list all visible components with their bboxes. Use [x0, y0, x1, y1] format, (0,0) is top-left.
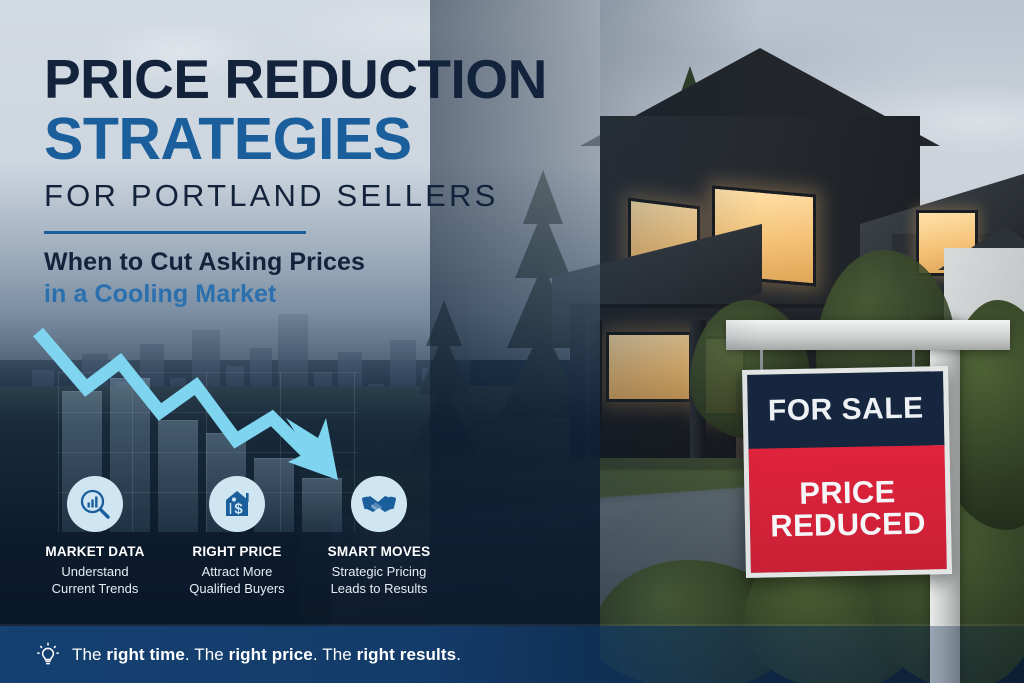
feature-title: SMART MOVES: [308, 544, 450, 559]
feature-list: MARKET DATA Understand Current Trends $ …: [24, 476, 454, 597]
tagline-part3-end: .: [456, 645, 461, 664]
feature-desc-line2: Qualified Buyers: [166, 580, 308, 597]
page-title-line1: PRICE REDUCTION: [44, 52, 547, 107]
sign-price-text: PRICE: [799, 476, 896, 509]
page-title-line3: FOR PORTLAND SELLERS: [44, 180, 498, 211]
feature-title: MARKET DATA: [24, 544, 166, 559]
feature-icon-circle: $: [209, 476, 265, 532]
subtitle-line2: in a Cooling Market: [44, 280, 276, 309]
sign-bottom-panel: PRICE REDUCED: [749, 445, 947, 573]
feature-icon-circle: [351, 476, 407, 532]
tagline-banner: The right time. The right price. The rig…: [0, 626, 1024, 683]
feature-desc-line2: Leads to Results: [308, 580, 450, 597]
handshake-icon: [361, 486, 397, 522]
feature-desc-line1: Attract More: [166, 563, 308, 580]
feature-desc-line1: Strategic Pricing: [308, 563, 450, 580]
feature-smart-moves: SMART MOVES Strategic Pricing Leads to R…: [308, 476, 450, 597]
title-divider: [44, 231, 306, 234]
sign-board: FOR SALE PRICE REDUCED: [742, 366, 952, 578]
sign-top-panel: FOR SALE: [747, 371, 944, 449]
feature-desc-line2: Current Trends: [24, 580, 166, 597]
tagline-part2-plain: The: [194, 645, 228, 664]
feature-icon-circle: [67, 476, 123, 532]
sign-for-sale-text: FOR SALE: [768, 392, 924, 429]
tagline-part2-end: .: [313, 645, 322, 664]
feature-desc-line1: Understand: [24, 563, 166, 580]
tagline-text: The right time. The right price. The rig…: [72, 645, 461, 665]
tagline-part3-bold: right results: [357, 645, 457, 664]
sign-reduced-text: REDUCED: [770, 508, 926, 543]
tagline-part1-bold: right time: [106, 645, 184, 664]
sign-post-horizontal: [726, 320, 1010, 350]
tagline-part3-plain: The: [322, 645, 356, 664]
tagline-part2-bold: right price: [229, 645, 313, 664]
feature-right-price: $ RIGHT PRICE Attract More Qualified Buy…: [166, 476, 308, 597]
tagline-part1-plain: The: [72, 645, 106, 664]
tagline-part1-end: .: [185, 645, 194, 664]
marketing-graphic-canvas: FOR SALE PRICE REDUCED PRICE REDUCTION S…: [0, 0, 1024, 683]
feature-title: RIGHT PRICE: [166, 544, 308, 559]
svg-text:$: $: [234, 501, 243, 518]
lightbulb-icon: [36, 642, 60, 668]
price-tag-dollar-icon: $: [220, 487, 254, 521]
subtitle-line1: When to Cut Asking Prices: [44, 248, 365, 277]
feature-market-data: MARKET DATA Understand Current Trends: [24, 476, 166, 597]
magnifier-bar-chart-icon: [78, 487, 112, 521]
page-title-line2: STRATEGIES: [44, 110, 412, 169]
